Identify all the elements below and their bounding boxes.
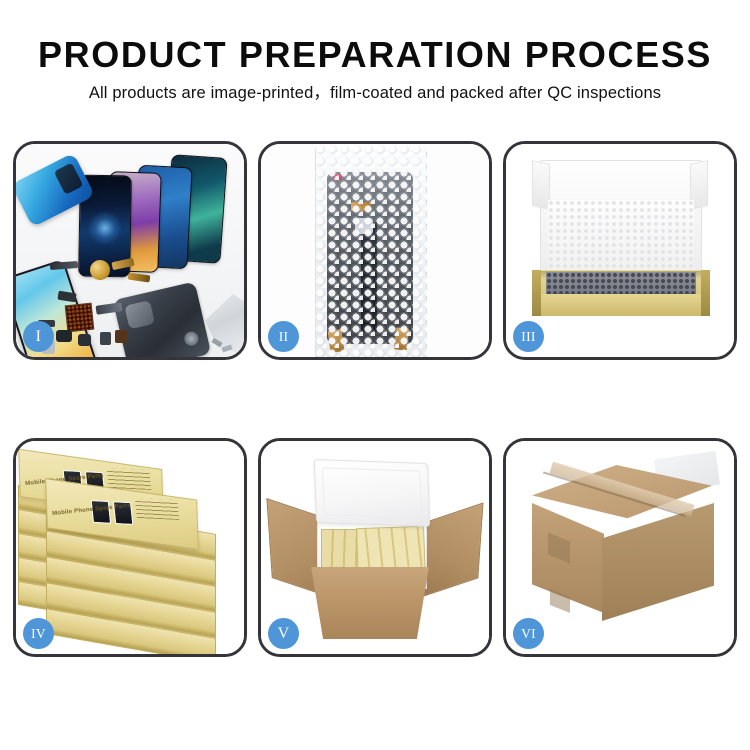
step-badge-6: VI <box>513 618 544 649</box>
bubble-highlight-layer <box>315 144 427 357</box>
chip-grid-icon <box>65 303 95 333</box>
foam-lid-open-icon <box>314 459 430 527</box>
bubble-wrap-photo <box>261 144 489 357</box>
page-title: PRODUCT PREPARATION PROCESS <box>0 0 750 76</box>
panel-sealed-carton[interactable]: VI <box>503 438 737 657</box>
battery-connector-icon <box>78 334 91 346</box>
step-badge-3: III <box>513 321 544 352</box>
stacked-boxes-photo: Mobile Phone Spare Parts Mobile Phone Sp… <box>16 441 244 654</box>
process-step-grid: I II <box>13 141 737 681</box>
step-badge-5: V <box>268 618 299 649</box>
foam-box-photo <box>506 144 734 357</box>
step-badge-4: IV <box>23 618 54 649</box>
small-part-icon <box>100 332 111 345</box>
carton-packing-photo <box>261 441 489 654</box>
product-lineup-photo <box>16 144 244 357</box>
gold-box-edge-right <box>701 270 710 316</box>
step-badge-2: II <box>268 321 299 352</box>
box-artwork-textlines-front <box>135 498 180 520</box>
gold-box-edge-left <box>532 270 541 316</box>
panel-product-lineup[interactable]: I <box>13 141 247 360</box>
page-subtitle: All products are image-printed，film-coat… <box>0 76 750 104</box>
sealed-carton-photo <box>506 441 734 654</box>
step-badge-1: I <box>23 321 54 352</box>
box-artwork-textlines-rear <box>107 468 152 490</box>
small-part-icon <box>115 330 127 343</box>
carton-front-panel-icon <box>303 567 437 639</box>
gold-box-front-icon <box>532 294 710 316</box>
panel-stacked-boxes[interactable]: Mobile Phone Spare Parts Mobile Phone Sp… <box>13 438 247 657</box>
page-header: PRODUCT PREPARATION PROCESS All products… <box>0 0 750 104</box>
panel-carton-packing[interactable]: V <box>258 438 492 657</box>
camera-module-icon <box>56 330 72 342</box>
panel-foam-box[interactable]: III <box>503 141 737 360</box>
panel-bubble-wrap[interactable]: II <box>258 141 492 360</box>
white-foam-sheet-icon <box>548 200 694 276</box>
